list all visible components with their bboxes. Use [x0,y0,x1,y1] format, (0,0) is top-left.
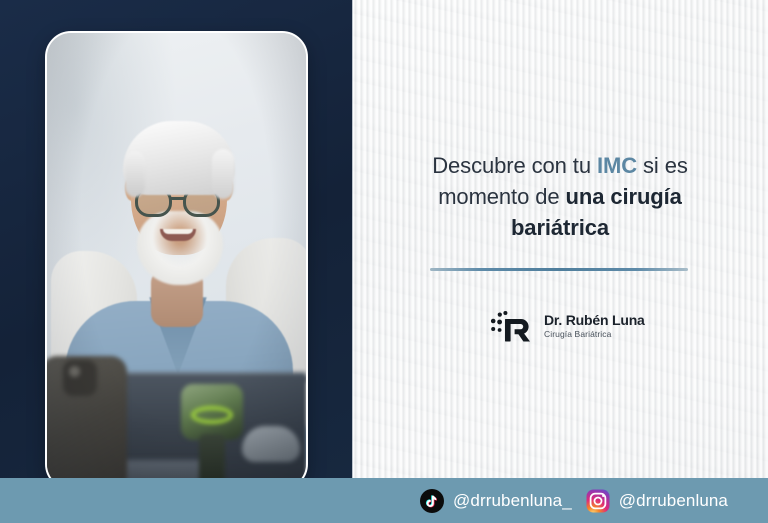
instagram-handle[interactable]: @drrubenluna [619,491,728,511]
tiktok-icon[interactable] [420,489,444,513]
headline-accent-imc: IMC [597,153,637,178]
social-item-tiktok[interactable]: @drrubenluna_ [420,489,572,513]
brand-text: Dr. Rubén Luna Cirugía Bariátrica [544,312,645,340]
panel-divider-edge [352,0,353,478]
instagram-icon[interactable] [586,489,610,513]
doctor-photo [47,33,306,488]
brand-logo-lockup: Dr. Rubén Luna Cirugía Bariátrica [490,308,645,344]
photo-vignette [47,33,306,488]
r-monogram-icon [490,308,534,344]
social-footer-bar: @drrubenluna_ @drrubenluna [0,478,768,523]
promo-graphic: Descubre con tu IMC si es momento de una… [0,0,768,523]
headline-part-1: Descubre con tu [432,153,597,178]
brand-name: Dr. Rubén Luna [544,312,645,328]
social-item-instagram[interactable]: @drrubenluna [586,489,728,513]
doctor-photo-card [45,31,308,490]
tiktok-handle[interactable]: @drrubenluna_ [453,491,572,511]
divider-rule [430,268,688,271]
headline: Descubre con tu IMC si es momento de una… [400,150,720,243]
brand-tagline: Cirugía Bariátrica [544,328,645,340]
